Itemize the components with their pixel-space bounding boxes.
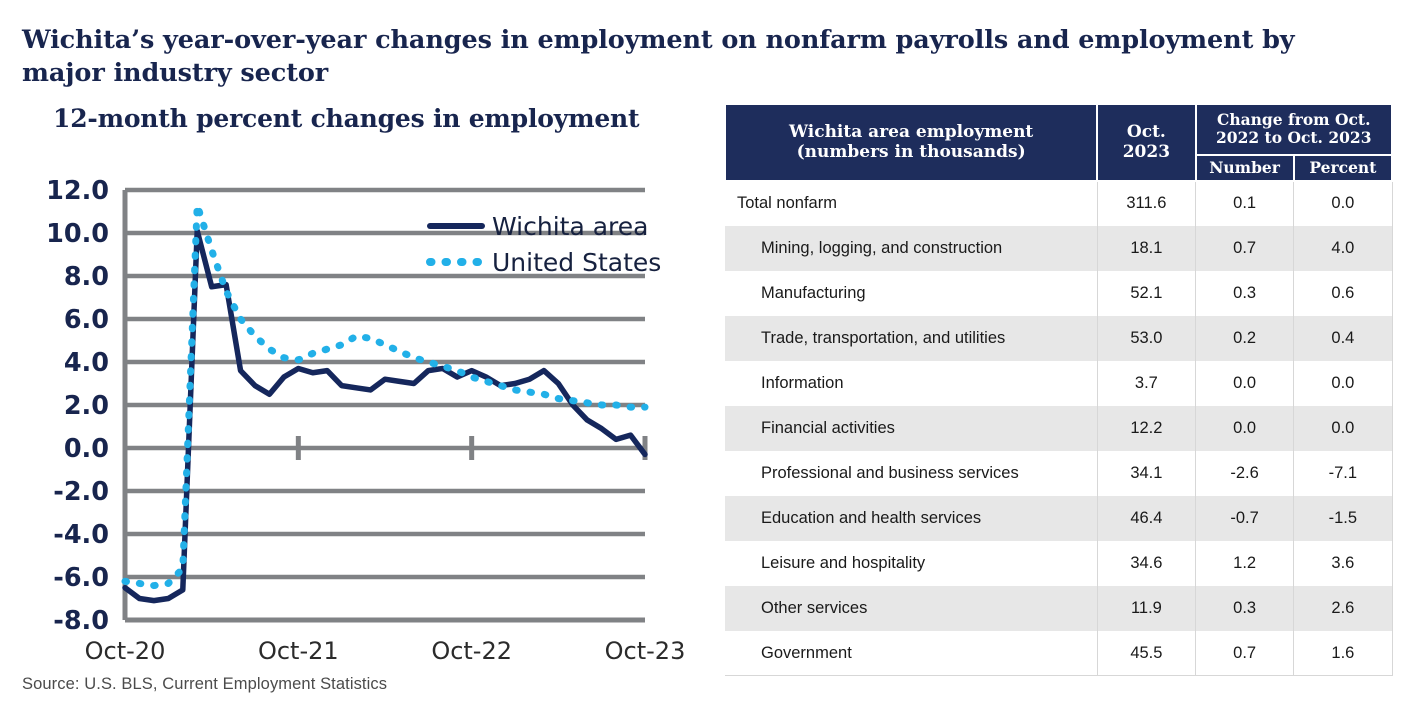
x-axis-tick-label: Oct-20 [85,637,166,660]
col-header-industry: Wichita area employment (numbers in thou… [725,104,1097,181]
y-axis-tick-label: -6.0 [53,563,109,593]
cell-change-percent: 1.6 [1294,631,1392,676]
legend-label-1: Wichita area [492,212,648,241]
cell-change-percent: 4.0 [1294,226,1392,271]
col-header-level-line1: Oct. [1100,122,1192,142]
table-row: Professional and business services34.1-2… [725,451,1392,496]
y-axis-tick-label: 0.0 [64,434,109,464]
cell-change-number: 0.7 [1196,631,1294,676]
y-axis-tick-label: 2.0 [64,391,109,421]
table-row: Education and health services46.4-0.7-1.… [725,496,1392,541]
cell-change-number: -2.6 [1196,451,1294,496]
cell-industry: Financial activities [725,406,1097,451]
cell-change-percent: 0.4 [1294,316,1392,361]
col-header-percent: Percent [1294,155,1392,181]
x-axis-tick-label: Oct-22 [431,637,512,660]
table-row: Total nonfarm311.60.10.0 [725,181,1392,226]
cell-level: 53.0 [1097,316,1195,361]
table-row: Leisure and hospitality34.61.23.6 [725,541,1392,586]
chart-svg: 12.010.08.06.04.02.00.0-2.0-4.0-6.0-8.0O… [0,160,710,660]
col-header-change-line1: Change from Oct. [1201,111,1388,129]
cell-change-percent: 3.6 [1294,541,1392,586]
cell-level: 12.2 [1097,406,1195,451]
page-title: Wichita’s year-over-year changes in empl… [22,24,1362,90]
line-chart: 12.010.08.06.04.02.00.0-2.0-4.0-6.0-8.0O… [0,160,710,660]
table-row: Trade, transportation, and utilities53.0… [725,316,1392,361]
cell-change-percent: 0.0 [1294,181,1392,226]
cell-level: 3.7 [1097,361,1195,406]
cell-level: 46.4 [1097,496,1195,541]
col-header-industry-line1: Wichita area employment [732,122,1090,142]
cell-change-number: 0.0 [1196,361,1294,406]
cell-change-number: 0.3 [1196,271,1294,316]
x-axis-tick-label: Oct-23 [605,637,686,660]
cell-change-number: 0.7 [1196,226,1294,271]
cell-change-number: 0.3 [1196,586,1294,631]
cell-industry: Information [725,361,1097,406]
cell-industry: Government [725,631,1097,676]
col-header-level-line2: 2023 [1100,142,1192,162]
cell-industry: Trade, transportation, and utilities [725,316,1097,361]
cell-change-number: 0.0 [1196,406,1294,451]
cell-industry: Mining, logging, and construction [725,226,1097,271]
cell-change-percent: -7.1 [1294,451,1392,496]
cell-change-number: 0.2 [1196,316,1294,361]
col-header-change-group: Change from Oct. 2022 to Oct. 2023 [1196,104,1393,155]
x-axis-tick-label: Oct-21 [258,637,339,660]
table-row: Manufacturing52.10.30.6 [725,271,1392,316]
y-axis-tick-label: -2.0 [53,477,109,507]
employment-table: Wichita area employment (numbers in thou… [724,103,1393,676]
cell-industry: Manufacturing [725,271,1097,316]
cell-industry: Other services [725,586,1097,631]
col-header-industry-line2: (numbers in thousands) [732,142,1090,162]
cell-change-percent: -1.5 [1294,496,1392,541]
y-axis-tick-label: 4.0 [64,348,109,378]
col-header-change-line2: 2022 to Oct. 2023 [1201,129,1388,147]
cell-level: 52.1 [1097,271,1195,316]
cell-level: 45.5 [1097,631,1195,676]
y-axis-tick-label: 6.0 [64,305,109,335]
table-row: Government45.50.71.6 [725,631,1392,676]
cell-level: 34.6 [1097,541,1195,586]
cell-industry: Professional and business services [725,451,1097,496]
cell-change-number: 1.2 [1196,541,1294,586]
cell-industry: Leisure and hospitality [725,541,1097,586]
col-header-number: Number [1196,155,1294,181]
y-axis-tick-label: 8.0 [64,262,109,292]
cell-industry: Education and health services [725,496,1097,541]
cell-industry: Total nonfarm [725,181,1097,226]
cell-change-percent: 2.6 [1294,586,1392,631]
cell-change-number: 0.1 [1196,181,1294,226]
y-axis-tick-label: -8.0 [53,606,109,636]
table-body: Total nonfarm311.60.10.0Mining, logging,… [725,181,1392,676]
cell-change-percent: 0.6 [1294,271,1392,316]
chart-title: 12-month percent changes in employment [53,104,639,133]
cell-level: 18.1 [1097,226,1195,271]
table-row: Financial activities12.20.00.0 [725,406,1392,451]
cell-level: 311.6 [1097,181,1195,226]
y-axis-tick-label: 12.0 [46,176,109,206]
cell-change-percent: 0.0 [1294,361,1392,406]
y-axis-tick-label: 10.0 [46,219,109,249]
cell-level: 34.1 [1097,451,1195,496]
table-row: Other services11.90.32.6 [725,586,1392,631]
source-note: Source: U.S. BLS, Current Employment Sta… [22,675,387,694]
cell-level: 11.9 [1097,586,1195,631]
cell-change-number: -0.7 [1196,496,1294,541]
legend-label-2: United States [492,248,661,277]
table-row: Mining, logging, and construction18.10.7… [725,226,1392,271]
table-header: Wichita area employment (numbers in thou… [725,104,1392,181]
cell-change-percent: 0.0 [1294,406,1392,451]
col-header-level: Oct. 2023 [1097,104,1195,181]
table-row: Information3.70.00.0 [725,361,1392,406]
series-line-wichita-area [125,231,645,601]
y-axis-tick-label: -4.0 [53,520,109,550]
infographic-page: Wichita’s year-over-year changes in empl… [0,0,1425,714]
